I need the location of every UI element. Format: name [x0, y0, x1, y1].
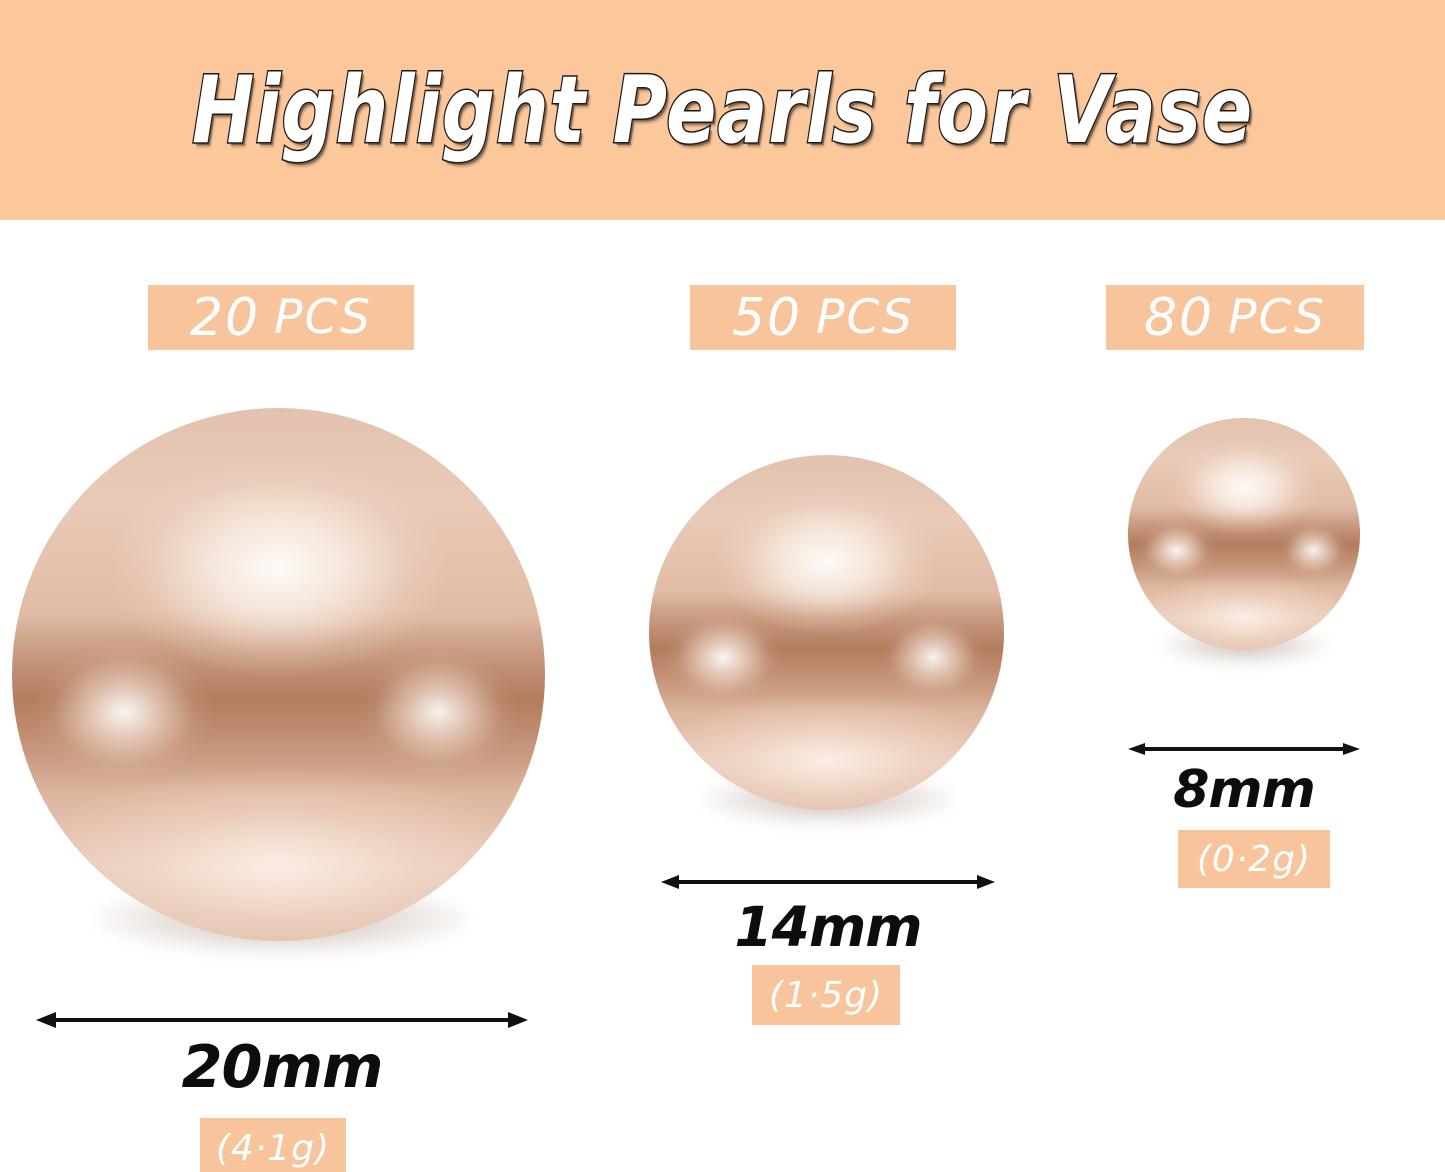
pcs-badge-medium: 50PCS — [690, 285, 956, 350]
pcs-unit-small: PCS — [1228, 290, 1326, 345]
weight-badge-medium: (1·5g) — [752, 965, 900, 1025]
diameter-label-medium: 14mm — [661, 895, 995, 959]
pearl-small — [1128, 418, 1360, 650]
diameter-label-small: 8mm — [1128, 760, 1360, 820]
pcs-count-large: 20 — [190, 288, 260, 348]
pcs-badge-small: 80PCS — [1106, 285, 1364, 350]
pcs-count-medium: 50 — [732, 288, 802, 348]
weight-badge-large: (4·1g) — [200, 1118, 346, 1172]
dimension-arrow-small — [1128, 739, 1360, 759]
pcs-count-small: 80 — [1144, 288, 1214, 348]
page-title: Highlight Pearls for Vase — [145, 0, 1301, 220]
pcs-unit-medium: PCS — [816, 290, 914, 345]
pearl-large — [12, 408, 545, 941]
diameter-label-large: 20mm — [36, 1032, 528, 1101]
pcs-badge-large: 20PCS — [148, 285, 414, 350]
pearl-medium-body — [649, 455, 1004, 810]
infographic-canvas: Highlight Pearls for Vase 20PCS 20mm (4·… — [0, 0, 1445, 1172]
dimension-arrow-medium — [661, 871, 995, 893]
pearl-large-body — [12, 408, 545, 941]
pcs-unit-large: PCS — [274, 290, 372, 345]
pearl-small-body — [1128, 418, 1360, 650]
dimension-arrow-large — [36, 1008, 528, 1032]
pearl-medium — [649, 455, 1004, 810]
weight-badge-small: (0·2g) — [1178, 830, 1330, 888]
